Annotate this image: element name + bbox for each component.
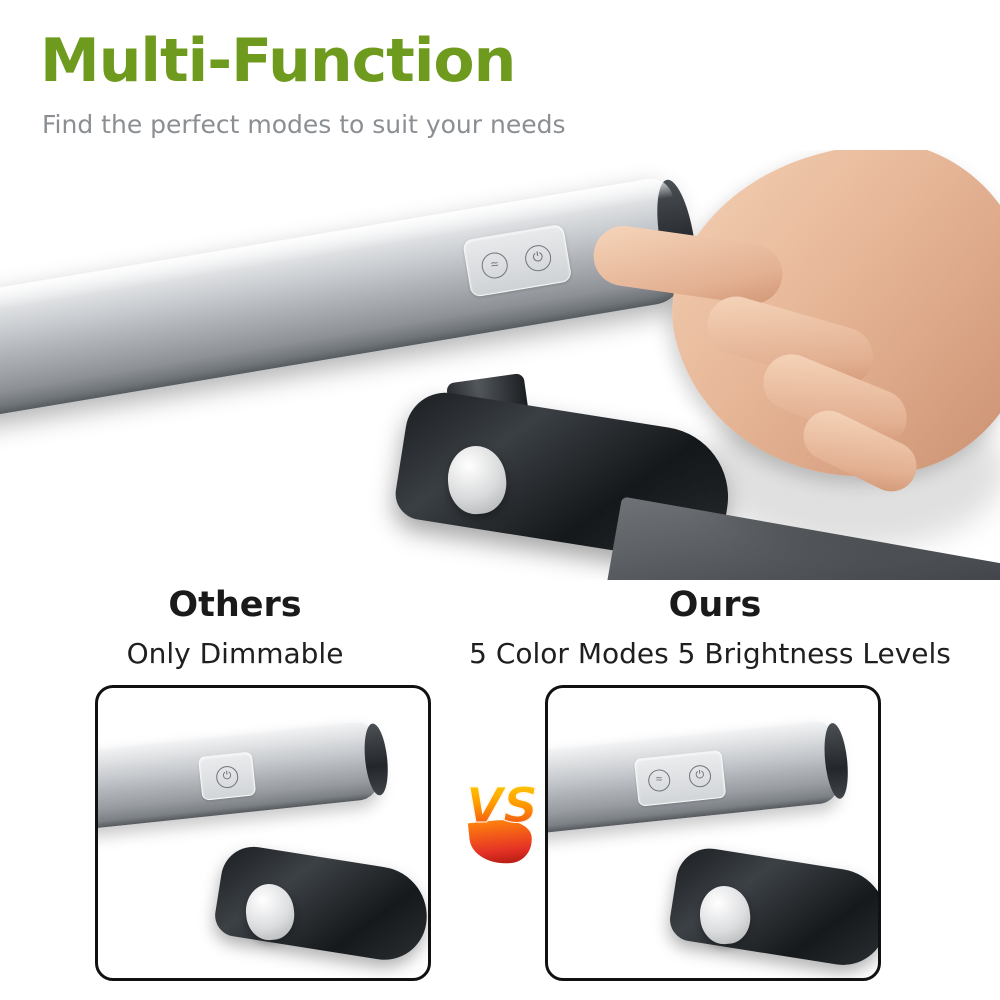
- power-icon[interactable]: ⏻: [523, 243, 553, 273]
- versus-label: VS: [452, 778, 552, 834]
- ours-lamp-end-cap: [821, 722, 851, 800]
- hand-pressing-button: [585, 150, 1000, 570]
- ours-title: Ours: [430, 585, 1000, 625]
- brightness-mode-icon[interactable]: ≈: [647, 768, 671, 792]
- others-lamp-end-cap: [361, 722, 390, 796]
- ours-lamp-bar: ≈ ⏻: [545, 720, 841, 834]
- brightness-mode-icon[interactable]: ≈: [480, 250, 510, 280]
- ours-photo-frame: ≈ ⏻: [545, 685, 881, 981]
- product-infographic: Multi-Function Find the perfect modes to…: [0, 0, 1000, 1000]
- others-lamp-bar: ⏻: [95, 721, 381, 830]
- power-icon[interactable]: ⏻: [215, 765, 239, 789]
- ours-subtitle: 5 Color Modes 5 Brightness Levels: [420, 637, 1000, 670]
- others-photo-frame: ⏻: [95, 685, 431, 981]
- others-subtitle: Only Dimmable: [0, 637, 470, 670]
- page-title: Multi-Function: [40, 26, 515, 96]
- others-touch-panel[interactable]: ⏻: [198, 751, 256, 800]
- page-subtitle: Find the perfect modes to suit your need…: [42, 110, 566, 139]
- versus-badge: VS: [452, 778, 552, 858]
- power-icon[interactable]: ⏻: [688, 764, 712, 788]
- ours-touch-panel[interactable]: ≈ ⏻: [634, 750, 727, 807]
- others-title: Others: [0, 585, 470, 625]
- hero-photo: ≈ ⏻ Store No: 4416080: [0, 150, 1000, 580]
- touch-control-panel[interactable]: ≈ ⏻: [462, 224, 572, 298]
